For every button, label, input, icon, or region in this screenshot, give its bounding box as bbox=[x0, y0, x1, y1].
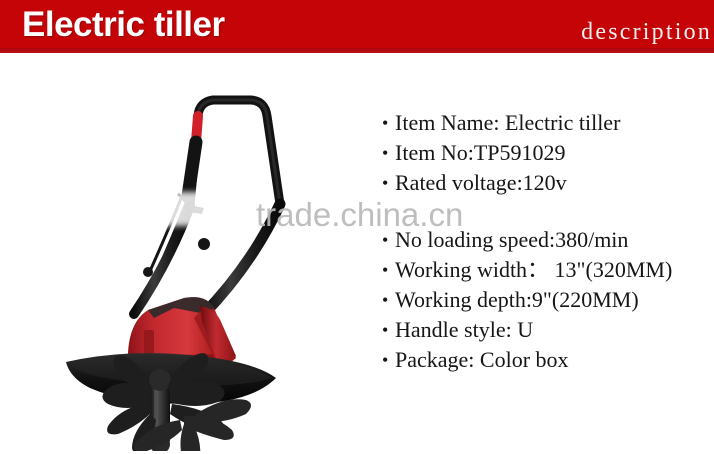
page-title: Electric tiller bbox=[22, 5, 225, 45]
bullet-icon: • bbox=[382, 345, 388, 375]
bullet-icon: • bbox=[382, 255, 388, 285]
product-description-banner: Electric tiller description bbox=[0, 0, 714, 454]
brace-knob-left bbox=[143, 267, 153, 277]
list-item: • No loading speed:380/min bbox=[381, 225, 714, 255]
list-item-label: Working width： 13"(320MM) bbox=[395, 257, 672, 282]
list-item-label: Package: Color box bbox=[395, 347, 569, 372]
electric-tiller-photo bbox=[8, 56, 380, 451]
bullet-icon: • bbox=[382, 108, 388, 138]
brace-knob-right bbox=[198, 238, 210, 250]
bullet-icon: • bbox=[382, 168, 388, 198]
bullet-icon: • bbox=[382, 225, 388, 255]
list-item-label: Rated voltage:120v bbox=[395, 170, 567, 195]
bullet-icon: • bbox=[382, 138, 388, 168]
handle-grip bbox=[188, 142, 196, 196]
page-header: Electric tiller description bbox=[0, 0, 714, 53]
list-item: • Item Name: Electric tiller bbox=[381, 108, 714, 138]
list-item-label: Working depth:9"(220MM) bbox=[395, 287, 639, 312]
list-item: • Package: Color box bbox=[381, 345, 714, 375]
list-item: • Rated voltage:120v bbox=[381, 168, 714, 198]
list-item-label: Item Name: Electric tiller bbox=[395, 110, 620, 135]
list-item: • Working depth:9"(220MM) bbox=[381, 285, 714, 315]
specification-list: • Item Name: Electric tiller • Item No:T… bbox=[381, 108, 714, 375]
list-item: • Item No:TP591029 bbox=[381, 138, 714, 168]
header-bottom-shade bbox=[0, 48, 714, 53]
list-item: • Working width： 13"(320MM) bbox=[381, 255, 714, 285]
list-item-label: No loading speed:380/min bbox=[395, 227, 628, 252]
header-section-label: description bbox=[581, 19, 712, 46]
list-item: • Handle style: U bbox=[381, 315, 714, 345]
list-item-label: Item No:TP591029 bbox=[395, 140, 566, 165]
bullet-icon: • bbox=[382, 285, 388, 315]
bullet-icon: • bbox=[382, 315, 388, 345]
list-item-label: Handle style: U bbox=[395, 317, 533, 342]
electric-tiller-illustration bbox=[8, 56, 380, 451]
